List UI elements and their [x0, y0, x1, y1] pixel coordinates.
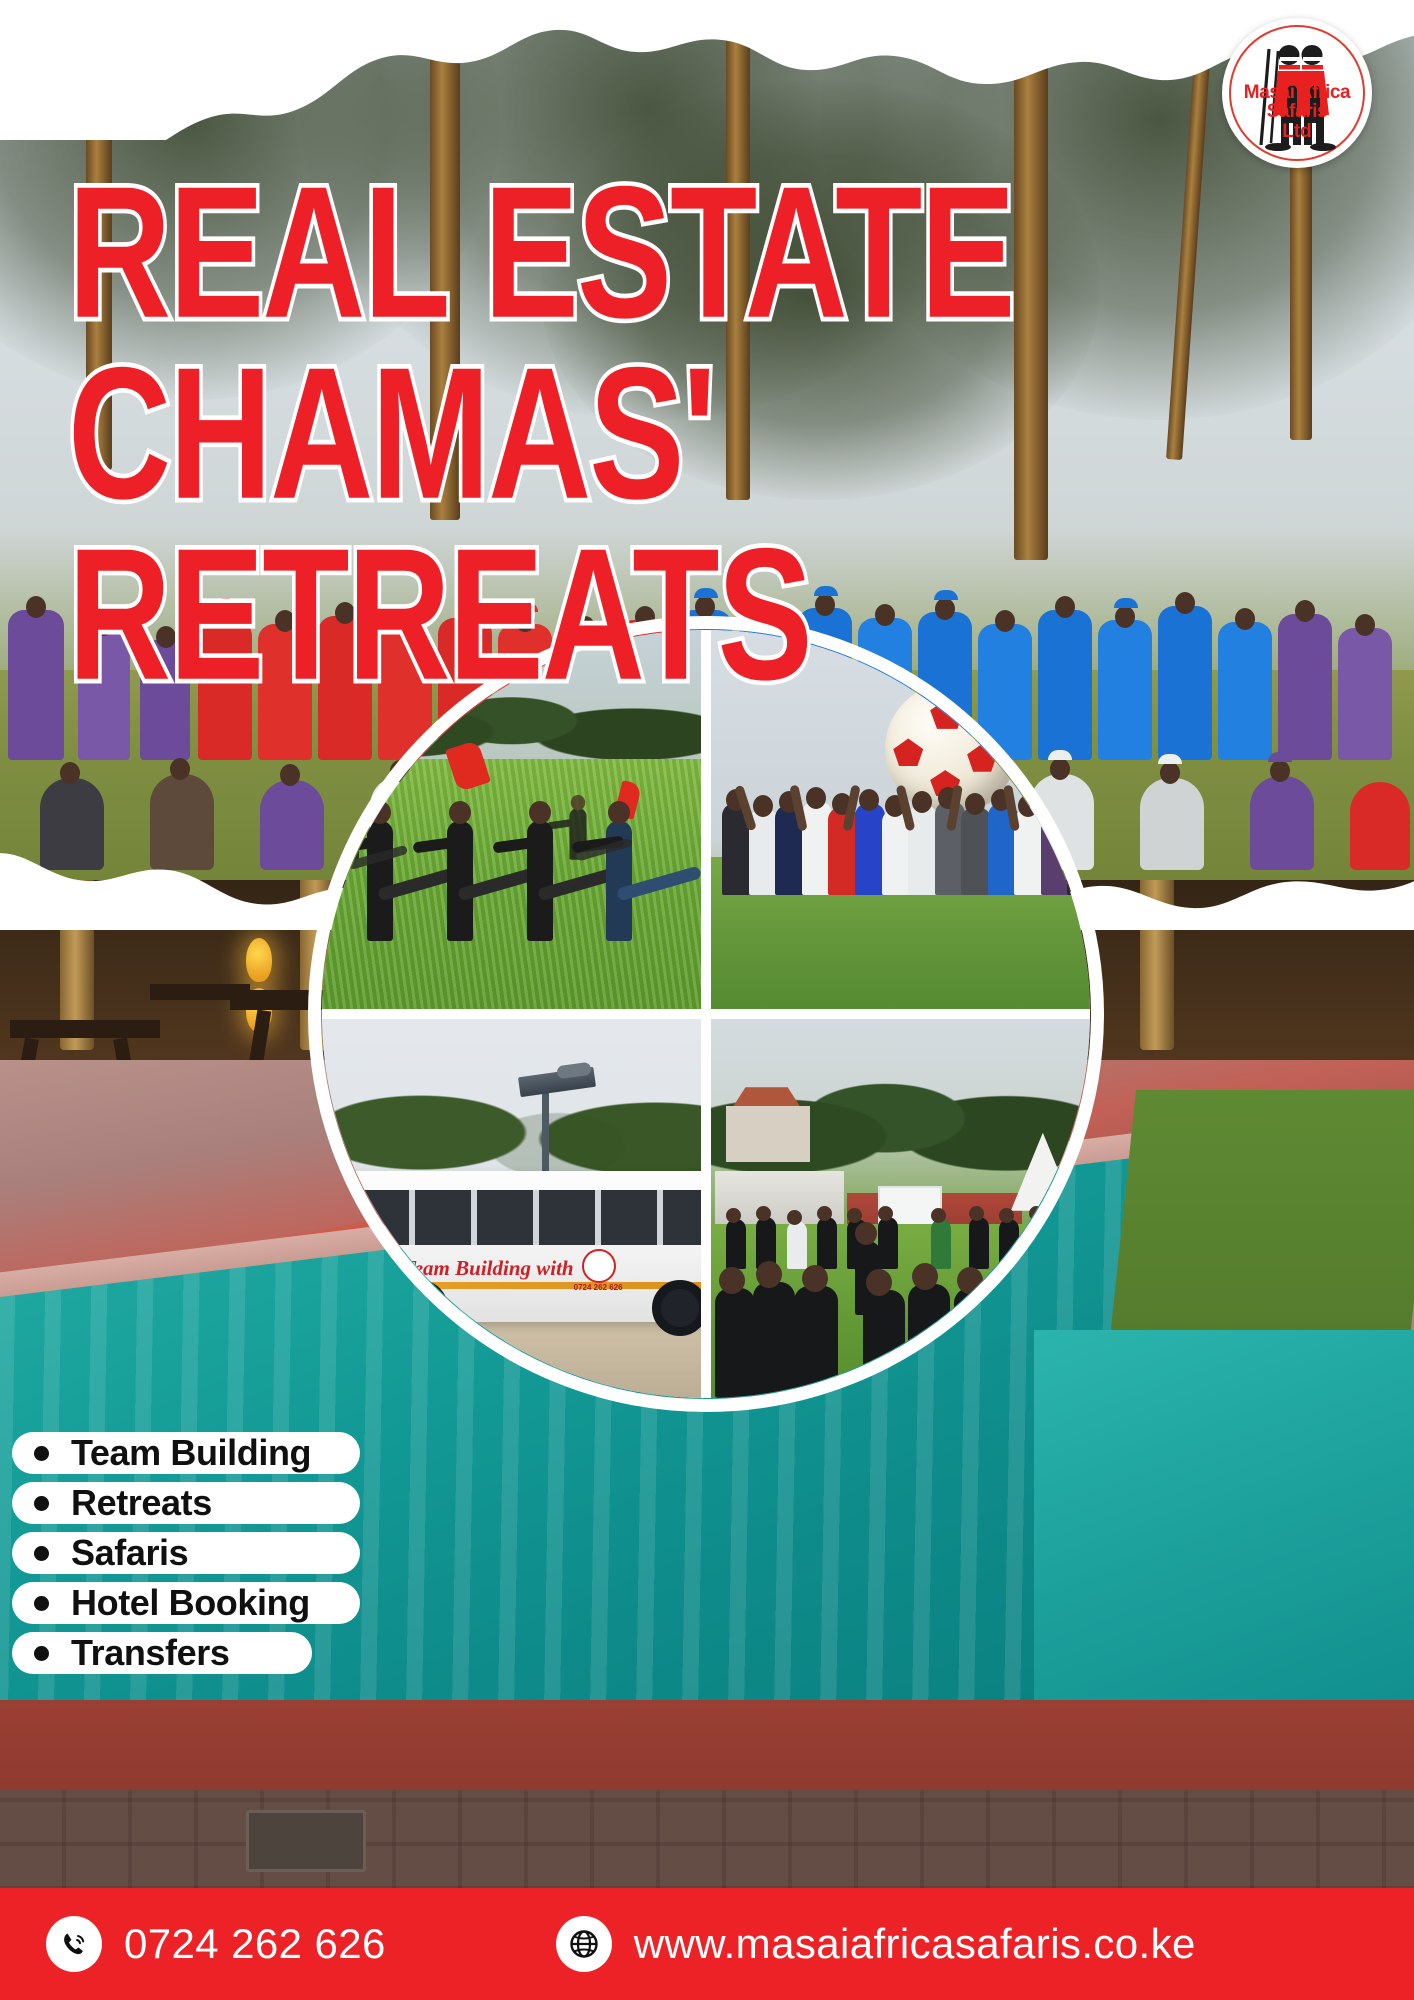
- footer-phone-text: 0724 262 626: [124, 1920, 386, 1968]
- footer-website-text: www.masaiafricasafaris.co.ke: [634, 1920, 1196, 1968]
- company-logo: Masai Africa Safaris Ltd: [1222, 18, 1372, 168]
- phone-call-icon: [46, 1916, 102, 1972]
- headline-block: REAL ESTATE CHAMAS' RETREATS: [68, 160, 995, 704]
- logo-line-1: Masai Africa Safaris: [1231, 83, 1363, 122]
- photo-collage: #Team Building with 0724 262 626: [322, 630, 1090, 1398]
- list-item: Safaris: [12, 1532, 372, 1574]
- poster-canvas: REAL ESTATE CHAMAS' RETREATS: [0, 0, 1414, 2000]
- list-item: Retreats: [12, 1482, 372, 1524]
- globe-icon: [556, 1916, 612, 1972]
- tour-bus: #Team Building with 0724 262 626: [337, 1171, 701, 1323]
- headline-line-3: RETREATS: [68, 522, 1014, 706]
- service-label: Hotel Booking: [71, 1582, 332, 1624]
- bus-decal-text: #Team Building with: [392, 1256, 573, 1281]
- collage-photo-bus: #Team Building with 0724 262 626: [322, 1019, 701, 1398]
- bullet-dot-icon: [34, 1546, 49, 1561]
- bullet-dot-icon: [34, 1596, 49, 1611]
- list-item: Team Building: [12, 1432, 372, 1474]
- logo-line-2: Ltd: [1231, 122, 1363, 141]
- bus-decal-phone: 0724 262 626: [574, 1283, 623, 1292]
- services-list: Team Building Retreats Safaris Hotel Boo…: [12, 1432, 372, 1682]
- service-label: Retreats: [71, 1482, 234, 1524]
- headline-line-2: CHAMAS': [68, 341, 1014, 525]
- headline-line-1: REAL ESTATE: [68, 160, 1014, 344]
- collage-photo-team-circle: [711, 1019, 1090, 1398]
- drain-grate: [246, 1810, 366, 1872]
- contact-footer-bar: 0724 262 626 www.masaiafricasafaris.co.k…: [0, 1888, 1414, 2000]
- pool-right-section: [1034, 1330, 1414, 1750]
- bullet-dot-icon: [34, 1496, 49, 1511]
- service-label: Transfers: [71, 1632, 252, 1674]
- service-label: Team Building: [71, 1432, 333, 1474]
- bus-logo-icon: [582, 1249, 616, 1283]
- bullet-dot-icon: [34, 1446, 49, 1461]
- torn-edge-top: [0, 0, 1414, 140]
- list-item: Transfers: [12, 1632, 372, 1674]
- footer-website[interactable]: www.masaiafricasafaris.co.ke: [556, 1916, 1196, 1972]
- service-label: Safaris: [71, 1532, 210, 1574]
- footer-phone[interactable]: 0724 262 626: [46, 1916, 386, 1972]
- list-item: Hotel Booking: [12, 1582, 372, 1624]
- bullet-dot-icon: [34, 1646, 49, 1661]
